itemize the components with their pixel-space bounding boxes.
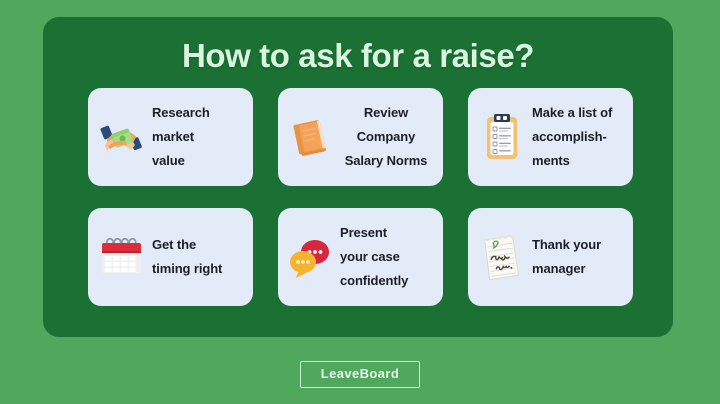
tip-card-research-market-value[interactable]: Research market value bbox=[88, 88, 253, 186]
tip-line: Make a list of bbox=[532, 101, 624, 125]
footer: LeaveBoard bbox=[0, 361, 720, 388]
tip-line: Salary Norms bbox=[338, 149, 434, 173]
tip-card-thank-your-manager[interactable]: Thank your manager bbox=[468, 208, 633, 306]
tip-line: value bbox=[152, 149, 244, 173]
content-panel: How to ask for a raise? bbox=[43, 17, 673, 337]
tip-card-label: Make a list of accomplish- ments bbox=[532, 101, 624, 173]
tip-card-label: Review Company Salary Norms bbox=[338, 101, 434, 173]
tip-line: Get the bbox=[152, 233, 244, 257]
tip-card-make-a-list-of-accomplishments[interactable]: Make a list of accomplish- ments bbox=[468, 88, 633, 186]
tip-line: accomplish- bbox=[532, 125, 624, 149]
poster-canvas: How to ask for a raise? bbox=[0, 0, 720, 404]
tip-card-label: Get the timing right bbox=[152, 233, 244, 281]
tip-line: confidently bbox=[340, 269, 434, 293]
thank-you-note-icon bbox=[478, 228, 526, 286]
tip-line: ments bbox=[532, 149, 624, 173]
tip-card-present-your-case-confidently[interactable]: Present your case confidently bbox=[278, 208, 443, 306]
money-in-hand-icon bbox=[98, 108, 146, 166]
tip-card-get-the-timing-right[interactable]: Get the timing right bbox=[88, 208, 253, 306]
tip-line: Research bbox=[152, 101, 244, 125]
tip-line: market bbox=[152, 125, 244, 149]
speech-bubbles-icon bbox=[288, 228, 334, 286]
clipboard-checklist-icon bbox=[478, 108, 526, 166]
tip-card-review-company-salary-norms[interactable]: Review Company Salary Norms bbox=[278, 88, 443, 186]
tip-line: Company bbox=[338, 125, 434, 149]
tip-line: manager bbox=[532, 257, 624, 281]
tip-card-label: Thank your manager bbox=[532, 233, 624, 281]
tip-line: timing right bbox=[152, 257, 244, 281]
tip-line: Review bbox=[338, 101, 434, 125]
calendar-icon bbox=[98, 228, 146, 286]
page-title: How to ask for a raise? bbox=[43, 37, 673, 75]
tip-line: Thank your bbox=[532, 233, 624, 257]
tip-card-label: Present your case confidently bbox=[340, 221, 434, 293]
tip-line: your case bbox=[340, 245, 434, 269]
orange-book-icon bbox=[288, 108, 332, 166]
leaveboard-logo[interactable]: LeaveBoard bbox=[300, 361, 420, 388]
tip-card-label: Research market value bbox=[152, 101, 244, 173]
tips-grid: Research market value bbox=[88, 88, 633, 306]
tip-line: Present bbox=[340, 221, 434, 245]
